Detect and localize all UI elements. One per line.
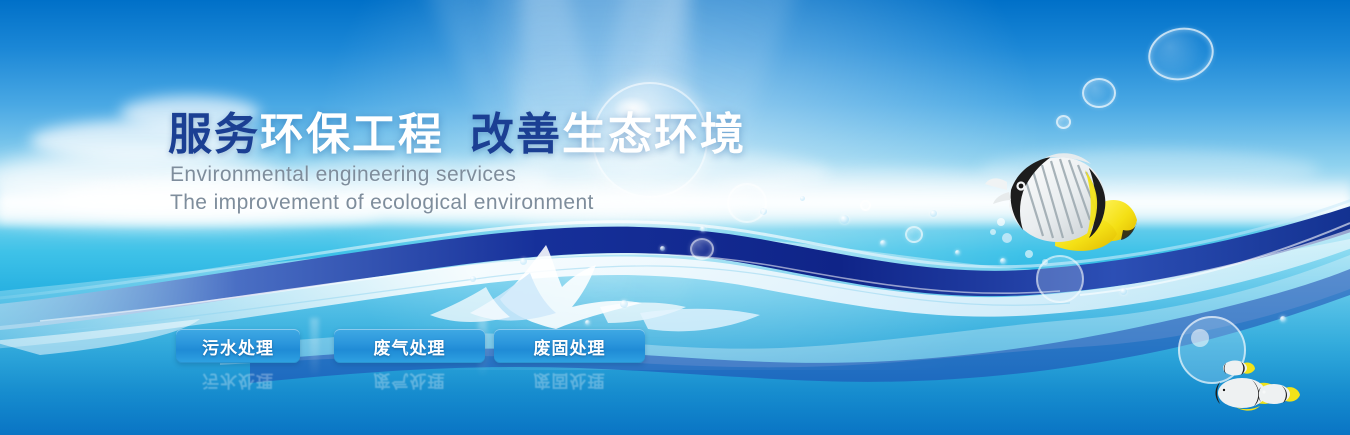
headline-part-light-1: 环保工程	[260, 110, 444, 159]
butterflyfish-school-item	[1212, 372, 1282, 414]
water-droplet	[800, 196, 805, 201]
water-droplet	[930, 210, 937, 217]
button-reflection: 污水处理	[176, 369, 300, 395]
headline-part-dark-1: 服务	[168, 110, 260, 159]
bubble-icon	[727, 183, 767, 223]
bubble-icon	[860, 200, 871, 211]
water-droplet	[620, 300, 628, 308]
cloud	[980, 150, 1320, 190]
bubble-icon	[1082, 78, 1116, 108]
bubble-icon	[905, 226, 923, 243]
light-ray	[551, 0, 699, 347]
water-droplet	[660, 246, 665, 251]
water-droplet	[1000, 258, 1006, 264]
water-droplet	[760, 208, 767, 215]
butterflyfish-school-item	[1255, 380, 1301, 408]
cloud	[720, 168, 1050, 206]
butterflyfish-main	[985, 138, 1145, 268]
water-droplet	[1120, 288, 1127, 295]
bubble-icon	[690, 238, 714, 260]
headline-part-light-2: 生态环境	[562, 110, 746, 159]
bubble-icon	[1143, 22, 1218, 87]
headline-part-dark-2: 改善	[470, 110, 562, 159]
water-wave	[0, 195, 1350, 435]
water-droplet	[1280, 316, 1286, 322]
button-waste-gas-treatment[interactable]: 废气处理	[334, 329, 485, 363]
water-droplet	[700, 226, 706, 232]
environmental-banner: 服务环保工程改善生态环境 Environmental engineering s…	[0, 0, 1350, 435]
water-droplet	[585, 320, 590, 325]
water-droplet	[840, 215, 849, 224]
button-reflection: 废固处理	[494, 369, 645, 395]
water-droplet	[470, 276, 476, 282]
subtitle-line-2: The improvement of ecological environmen…	[170, 191, 594, 215]
button-reflection: 废气处理	[334, 369, 485, 395]
water-droplet	[955, 250, 960, 255]
button-wastewater-treatment[interactable]: 污水处理	[176, 329, 300, 363]
butterflyfish-school-item	[1222, 358, 1256, 379]
page-title: 服务环保工程改善生态环境	[168, 98, 746, 162]
light-ray	[520, 0, 690, 350]
subtitle-line-1: Environmental engineering services	[170, 163, 516, 187]
button-solid-waste-treatment[interactable]: 废固处理	[494, 329, 645, 363]
water-droplet	[520, 258, 527, 265]
light-ray	[550, 0, 816, 343]
bubble-icon	[1056, 115, 1071, 129]
water-streak	[310, 318, 319, 378]
water-droplet	[880, 240, 886, 246]
